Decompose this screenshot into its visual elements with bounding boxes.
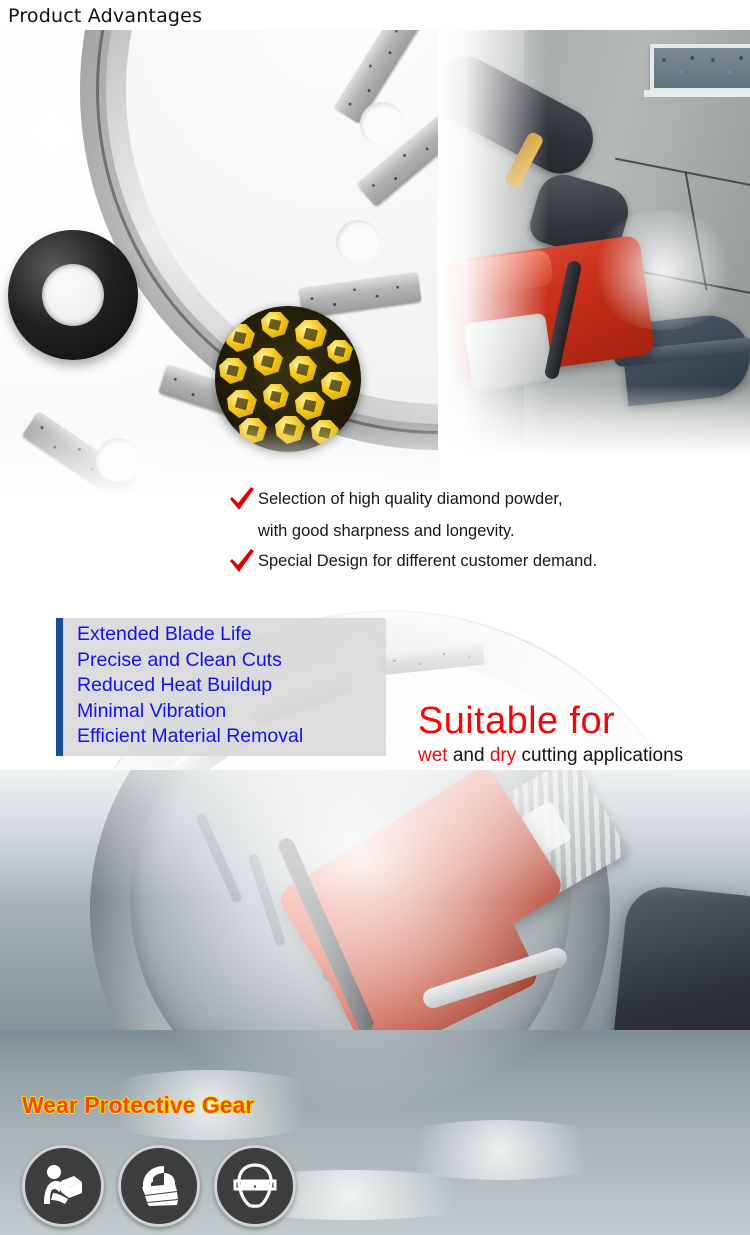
checklist-item-line2: with good sharpness and longevity. — [258, 516, 738, 546]
safety-goggles-icon — [214, 1145, 296, 1227]
blade-notch — [360, 102, 404, 146]
feature-list-panel: Extended Blade Life Precise and Clean Cu… — [56, 618, 386, 756]
feature-list: Extended Blade Life Precise and Clean Cu… — [63, 618, 303, 756]
feature-item: Reduced Heat Buildup — [77, 673, 303, 699]
checklist-item: Special Design for different customer de… — [228, 546, 738, 576]
red-check-icon — [228, 484, 258, 512]
blade-product-photo — [0, 30, 440, 495]
feature-item: Extended Blade Life — [77, 622, 303, 648]
red-check-icon — [228, 546, 258, 574]
checklist-item: Selection of high quality diamond powder… — [228, 484, 738, 514]
concrete-cutting-photo — [438, 30, 750, 455]
feature-item: Efficient Material Removal — [77, 724, 303, 750]
page-title: Product Advantages — [8, 5, 202, 27]
suitable-for-subtitle: wet and dry cutting applications — [418, 743, 683, 769]
ppe-heading-wrap: Wear Protective Gear — [22, 1092, 254, 1119]
dust-mask-icon — [118, 1145, 200, 1227]
wall-window — [650, 44, 750, 92]
advantage-checklist: Selection of high quality diamond powder… — [228, 484, 738, 578]
dust-cloud — [588, 210, 738, 330]
ppe-heading: Wear Protective Gear — [22, 1092, 254, 1119]
suitable-part-wet: wet — [418, 745, 448, 766]
suitable-for-block: Suitable for wet and dry cutting applica… — [418, 700, 683, 769]
suitable-part-dry: dry — [490, 745, 516, 766]
checklist-item-line1: Special Design for different customer de… — [258, 546, 597, 576]
read-manual-icon — [22, 1145, 104, 1227]
feature-item: Precise and Clean Cuts — [77, 648, 303, 674]
blade-notch — [336, 220, 380, 264]
reduction-ring-hole — [42, 264, 104, 326]
suitable-part-and: and — [448, 745, 490, 766]
suitable-for-title: Suitable for — [418, 700, 683, 742]
photo-bottom-fade — [438, 385, 750, 455]
ppe-icon-row — [22, 1145, 296, 1227]
suitable-part-tail: cutting applications — [516, 745, 683, 766]
header: Product Advantages — [0, 0, 750, 34]
feature-accent-bar — [56, 618, 63, 756]
checklist-item-line1: Selection of high quality diamond powder… — [258, 484, 563, 514]
product-advantages-banner: Product Advantages — [0, 0, 750, 1235]
window-sill — [644, 90, 750, 97]
feature-item: Minimal Vibration — [77, 699, 303, 725]
